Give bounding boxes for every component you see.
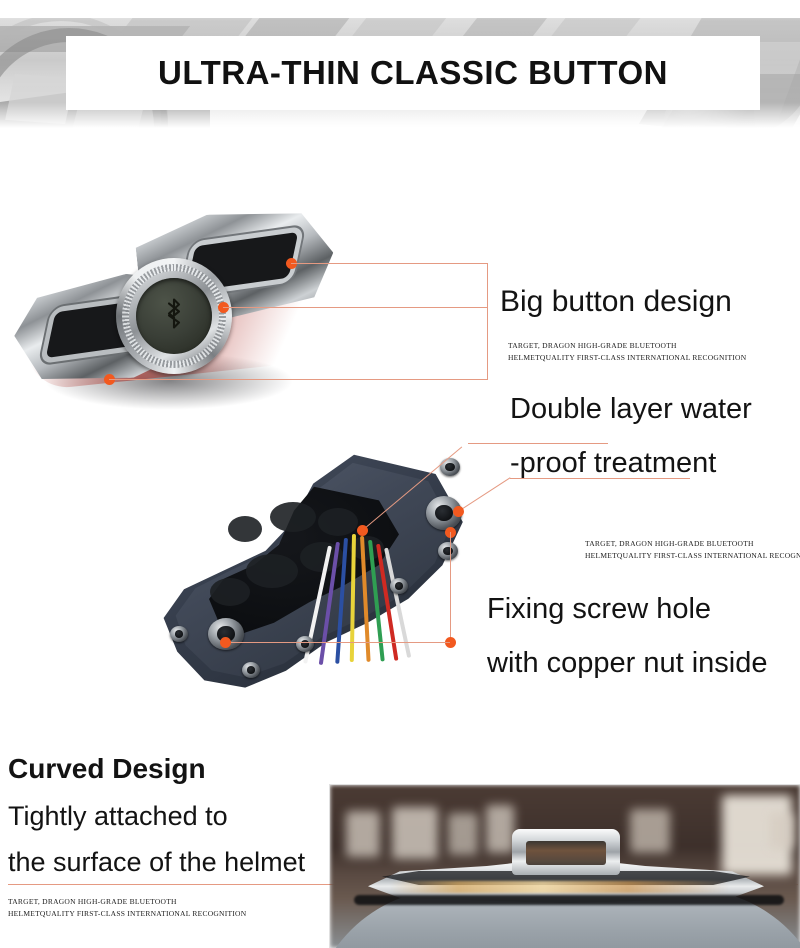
leader-line-1c xyxy=(109,379,488,380)
product-photo-front xyxy=(8,178,338,413)
callout-dot-screw-left xyxy=(220,637,231,648)
caption-line-2: HELMETQUALITY FIRST-CLASS INTERNATIONAL … xyxy=(508,352,746,364)
caption-line-1: TARGET, DRAGON HIGH-GRADE BLUETOOTH xyxy=(585,538,800,550)
feature-curved-design: Curved Design Tightly attached to the su… xyxy=(8,752,305,879)
screw-hole-inner-right xyxy=(390,578,408,594)
callout-dot-sealant xyxy=(357,525,368,536)
caption-block-1: TARGET, DRAGON HIGH-GRADE BLUETOOTH HELM… xyxy=(508,340,746,365)
feature-heading-line2: with copper nut inside xyxy=(487,646,768,680)
feature-body-line2: the surface of the helmet xyxy=(8,847,305,879)
feature-big-button: Big button design xyxy=(500,284,732,319)
caption-line-2: HELMETQUALITY FIRST-CLASS INTERNATIONAL … xyxy=(8,908,246,920)
button-pad xyxy=(136,278,212,354)
leader-line-2c-spine xyxy=(450,532,451,642)
title-banner: ULTRA-THIN CLASSIC BUTTON xyxy=(66,36,760,110)
feature-heading: Big button design xyxy=(500,284,732,319)
callout-dot-waterproof-layer xyxy=(453,506,464,517)
product-photo-helmet-profile xyxy=(330,785,800,948)
leader-line-1-spine xyxy=(487,263,488,380)
caption-line-1: TARGET, DRAGON HIGH-GRADE BLUETOOTH xyxy=(8,896,246,908)
screw-hole-bottom-left xyxy=(242,662,260,678)
leader-line-1b xyxy=(223,307,488,308)
caption-line-1: TARGET, DRAGON HIGH-GRADE BLUETOOTH xyxy=(508,340,746,352)
feature-heading-line1: Double layer water xyxy=(510,392,752,426)
header-banner-section: ULTRA-THIN CLASSIC BUTTON xyxy=(0,0,800,128)
leader-line-1a xyxy=(291,263,488,264)
bluetooth-icon xyxy=(160,297,188,336)
caption-line-2: HELMETQUALITY FIRST-CLASS INTERNATIONAL … xyxy=(585,550,800,562)
product-detail-page: ULTRA-THIN CLASSIC BUTTON xyxy=(0,0,800,948)
center-button-bezel xyxy=(116,258,232,374)
feature-waterproof: Double layer water -proof treatment xyxy=(510,392,752,480)
caption-block-2: TARGET, DRAGON HIGH-GRADE BLUETOOTH HELM… xyxy=(585,538,800,563)
page-title: ULTRA-THIN CLASSIC BUTTON xyxy=(158,54,668,92)
feature-heading-line1: Fixing screw hole xyxy=(487,592,768,626)
product-photo-underside xyxy=(150,450,490,690)
feature-screw-hole: Fixing screw hole with copper nut inside xyxy=(487,592,768,680)
feature-body-line1: Tightly attached to xyxy=(8,801,305,833)
leader-line-2c xyxy=(225,642,450,643)
screw-hole-left xyxy=(170,626,188,642)
caption-block-3: TARGET, DRAGON HIGH-GRADE BLUETOOTH HELM… xyxy=(8,896,246,921)
screw-hole-bottom xyxy=(296,636,314,652)
feature-heading: Curved Design xyxy=(8,752,305,785)
feature-heading-line2: -proof treatment xyxy=(510,446,752,480)
screw-hole-mid-right xyxy=(438,542,458,560)
